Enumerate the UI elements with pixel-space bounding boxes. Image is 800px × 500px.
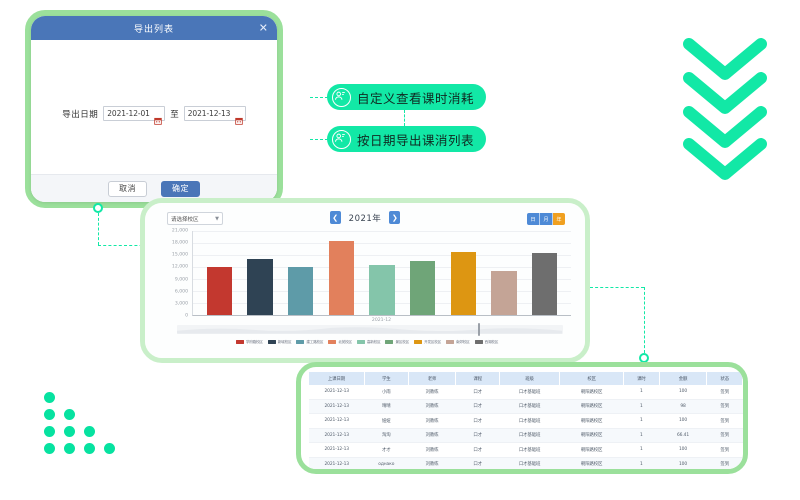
chart-toolbar: 请选择校区 ▼ ❮ 2021年 ❯ 日 月 年 xyxy=(145,209,585,229)
table-cell: 晴晴 xyxy=(364,399,408,414)
bar-slot xyxy=(240,231,281,315)
confirm-button[interactable]: 确定 xyxy=(161,181,200,197)
legend-swatch xyxy=(446,340,454,345)
cancel-button[interactable]: 取消 xyxy=(108,181,147,197)
x-axis-label: 2021-12 xyxy=(192,318,571,323)
table-cell: 妞妞 xyxy=(364,414,408,429)
table-row[interactable]: 2021-12-13小雨刘教练口才口才基础班朝阳路校区1100签到 xyxy=(309,385,743,399)
legend-label: 学府路校区 xyxy=(246,340,263,345)
legend-item[interactable]: 学府路校区 xyxy=(236,340,263,345)
decorative-dot-pattern xyxy=(44,392,126,458)
user-profile-icon xyxy=(332,130,351,149)
table-cell: 1 xyxy=(624,443,660,458)
table-cell: 98 xyxy=(659,399,707,414)
legend-swatch xyxy=(414,340,422,345)
y-axis-tick: 3,000 xyxy=(175,301,188,306)
table-column-header[interactable]: 学生 xyxy=(364,372,408,385)
table-column-header[interactable]: 班级 xyxy=(500,372,560,385)
table-cell: 2021-12-13 xyxy=(309,457,364,472)
table-cell: 口才基础班 xyxy=(500,414,560,429)
legend-item[interactable]: 西湖校区 xyxy=(475,340,499,345)
table-cell: 1 xyxy=(624,414,660,429)
legend-item[interactable]: 新城校区 xyxy=(268,340,292,345)
callout-pill-export-list[interactable]: 按日期导出课消列表 xyxy=(327,126,486,152)
chart-range-scrollbar[interactable] xyxy=(177,325,563,334)
bar[interactable] xyxy=(207,267,232,315)
legend-swatch xyxy=(296,340,304,345)
dialog-title: 导出列表 xyxy=(134,22,174,35)
connector-line-table-h xyxy=(590,287,644,288)
view-toggle-day[interactable]: 日 xyxy=(527,213,540,225)
connector-node-dialog xyxy=(93,203,103,213)
table-cell: 口才基础班 xyxy=(500,457,560,472)
table-column-header[interactable]: 上课日期 xyxy=(309,372,364,385)
callout-pill-custom-view[interactable]: 自定义查看课时消耗 xyxy=(327,84,486,110)
year-navigator: ❮ 2021年 ❯ xyxy=(145,211,585,224)
table-row[interactable]: 2021-12-13однако刘教练口才口才基础班朝阳路校区1100签到 xyxy=(309,457,743,472)
bar[interactable] xyxy=(329,241,354,315)
bar[interactable] xyxy=(369,265,394,315)
year-label: 2021年 xyxy=(349,212,382,224)
table-cell: 签到 xyxy=(707,399,743,414)
table-column-header[interactable]: 校区 xyxy=(560,372,624,385)
table-header-row: 上课日期学生老师课程班级校区课时金额状态 xyxy=(309,372,743,385)
bar-slot xyxy=(199,231,240,315)
legend-label: 南郊校区 xyxy=(456,340,470,345)
table-cell: 口才基础班 xyxy=(500,443,560,458)
legend-item[interactable]: 建工路校区 xyxy=(296,340,323,345)
table-cell: 朝阳路校区 xyxy=(560,414,624,429)
view-toggle-year[interactable]: 年 xyxy=(553,213,565,225)
bar-chart: 03,0006,0009,00012,00015,00018,00021,000… xyxy=(165,231,571,316)
chart-panel: 请选择校区 ▼ ❮ 2021年 ❯ 日 月 年 03,0006,0009,000… xyxy=(140,198,590,363)
connector-line-table-v xyxy=(644,287,645,353)
legend-item[interactable]: 北苑校区 xyxy=(328,340,352,345)
table-column-header[interactable]: 课程 xyxy=(456,372,500,385)
table-cell: 2021-12-13 xyxy=(309,399,364,414)
decorative-chevron-group xyxy=(683,38,769,183)
table-cell: 66.41 xyxy=(659,428,707,443)
legend-label: 建工路校区 xyxy=(306,340,323,345)
legend-item[interactable]: 南郊校区 xyxy=(446,340,470,345)
legend-swatch xyxy=(328,340,336,345)
table-cell: 刘教练 xyxy=(408,399,456,414)
year-prev-button[interactable]: ❮ xyxy=(330,211,341,224)
bar[interactable] xyxy=(410,261,435,315)
y-axis-tick: 9,000 xyxy=(175,277,188,282)
table-cell: 才才 xyxy=(364,443,408,458)
view-toggle-month[interactable]: 月 xyxy=(540,213,553,225)
table-cell: 刘教练 xyxy=(408,414,456,429)
legend-label: 西湖校区 xyxy=(485,340,499,345)
legend-item[interactable]: 高新校区 xyxy=(357,340,381,345)
bar-slot xyxy=(484,231,525,315)
table-cell: 刘教练 xyxy=(408,443,456,458)
table-cell: 口才 xyxy=(456,385,500,399)
table-cell: 口才 xyxy=(456,414,500,429)
bar-series xyxy=(199,231,565,315)
table-cell: 口才 xyxy=(456,399,500,414)
table-body: 2021-12-13小雨刘教练口才口才基础班朝阳路校区1100签到2021-12… xyxy=(309,385,743,472)
legend-swatch xyxy=(385,340,393,345)
dialog-body: 导出日期 2021-12-01 至 2021-12-13 xyxy=(31,40,277,174)
y-axis-tick: 21,000 xyxy=(172,229,188,234)
callout-connector-vertical xyxy=(404,110,405,126)
legend-swatch xyxy=(268,340,276,345)
table-cell: 签到 xyxy=(707,428,743,443)
export-date-label: 导出日期 xyxy=(62,108,98,120)
table-cell: 2021-12-13 xyxy=(309,414,364,429)
legend-label: 开发区校区 xyxy=(424,340,441,345)
table-cell: 2021-12-13 xyxy=(309,443,364,458)
table-cell: 刘教练 xyxy=(408,457,456,472)
table-column-header[interactable]: 老师 xyxy=(408,372,456,385)
connector-line-dialog xyxy=(98,213,99,245)
callout-connector-2 xyxy=(310,139,328,140)
range-preview-icon xyxy=(177,325,562,334)
date-from-input[interactable]: 2021-12-01 xyxy=(103,106,165,121)
table-cell: 2021-12-13 xyxy=(309,385,364,399)
table-cell: 口才基础班 xyxy=(500,399,560,414)
screenshot-stage: 导出列表 ✕ 导出日期 2021-12-01 至 xyxy=(0,0,800,500)
callout-label: 自定义查看课时消耗 xyxy=(357,88,474,107)
bar-slot xyxy=(362,231,403,315)
table-cell: 刘教练 xyxy=(408,428,456,443)
table-cell: 1 xyxy=(624,385,660,399)
calendar-icon[interactable] xyxy=(235,110,243,118)
bar[interactable] xyxy=(532,253,557,315)
y-axis: 03,0006,0009,00012,00015,00018,00021,000 xyxy=(165,231,191,316)
bar[interactable] xyxy=(288,267,313,315)
table-cell: 100 xyxy=(659,443,707,458)
y-axis-tick: 0 xyxy=(185,314,188,319)
course-consumption-table-panel: 上课日期学生老师课程班级校区课时金额状态 2021-12-13小雨刘教练口才口才… xyxy=(296,362,748,474)
legend-swatch xyxy=(475,340,483,345)
table-cell: 朝阳路校区 xyxy=(560,457,624,472)
bar[interactable] xyxy=(491,271,516,315)
legend-label: 北苑校区 xyxy=(338,340,352,345)
y-axis-tick: 12,000 xyxy=(172,265,188,270)
close-icon[interactable]: ✕ xyxy=(259,23,269,34)
table-row[interactable]: 2021-12-13才才刘教练口才口才基础班朝阳路校区1100签到 xyxy=(309,443,743,458)
table-cell: 朝阳路校区 xyxy=(560,385,624,399)
table-column-header[interactable]: 课时 xyxy=(624,372,660,385)
table-cell: 朝阳路校区 xyxy=(560,443,624,458)
table-cell: 100 xyxy=(659,414,707,429)
date-to-value: 2021-12-13 xyxy=(188,109,231,118)
table-cell: 100 xyxy=(659,385,707,399)
callout-connector-1 xyxy=(310,97,328,98)
table-cell: 朝阳路校区 xyxy=(560,399,624,414)
user-profile-icon xyxy=(332,88,351,107)
plot-grid xyxy=(192,231,571,316)
table-cell: 签到 xyxy=(707,414,743,429)
legend-label: 高新校区 xyxy=(367,340,381,345)
table-cell: 口才基础班 xyxy=(500,385,560,399)
legend-item[interactable]: 开发区校区 xyxy=(414,340,441,345)
table-cell: 签到 xyxy=(707,457,743,472)
chart-inner: 请选择校区 ▼ ❮ 2021年 ❯ 日 月 年 03,0006,0009,000… xyxy=(145,203,585,358)
year-next-button[interactable]: ❯ xyxy=(389,211,400,224)
bar[interactable] xyxy=(451,252,476,315)
table-cell: 签到 xyxy=(707,443,743,458)
chevron-down-icon xyxy=(683,138,767,182)
table-cell: 1 xyxy=(624,457,660,472)
table-cell: 100 xyxy=(659,457,707,472)
date-from-value: 2021-12-01 xyxy=(107,109,150,118)
bar-slot xyxy=(321,231,362,315)
table-row[interactable]: 2021-12-13淘淘刘教练口才口才基础班朝阳路校区166.41签到 xyxy=(309,428,743,443)
legend-label: 景区校区 xyxy=(395,340,409,345)
table-cell: 1 xyxy=(624,428,660,443)
legend-item[interactable]: 景区校区 xyxy=(385,340,409,345)
table-column-header[interactable]: 状态 xyxy=(707,372,743,385)
date-range-separator: 至 xyxy=(170,108,179,120)
date-to-input[interactable]: 2021-12-13 xyxy=(184,106,246,121)
y-axis-tick: 6,000 xyxy=(175,289,188,294)
table-cell: 口才 xyxy=(456,443,500,458)
dialog-title-bar: 导出列表 ✕ xyxy=(31,16,277,40)
table-cell: 朝阳路校区 xyxy=(560,428,624,443)
table-cell: однако xyxy=(364,457,408,472)
export-dialog: 导出列表 ✕ 导出日期 2021-12-01 至 xyxy=(31,16,277,202)
table-cell: 口才基础班 xyxy=(500,428,560,443)
table-cell: 淘淘 xyxy=(364,428,408,443)
legend-label: 新城校区 xyxy=(278,340,292,345)
table-cell: 1 xyxy=(624,399,660,414)
bar-slot xyxy=(280,231,321,315)
table-cell: 口才 xyxy=(456,457,500,472)
table-cell: 口才 xyxy=(456,428,500,443)
table-cell: 2021-12-13 xyxy=(309,428,364,443)
table-row[interactable]: 2021-12-13妞妞刘教练口才口才基础班朝阳路校区1100签到 xyxy=(309,414,743,429)
legend-swatch xyxy=(357,340,365,345)
table-cell: 签到 xyxy=(707,385,743,399)
bar-slot xyxy=(524,231,565,315)
bar-slot xyxy=(402,231,443,315)
y-axis-tick: 15,000 xyxy=(172,253,188,258)
table-row[interactable]: 2021-12-13晴晴刘教练口才口才基础班朝阳路校区198签到 xyxy=(309,399,743,414)
bar[interactable] xyxy=(247,259,272,315)
table-cell: 刘教练 xyxy=(408,385,456,399)
callout-label: 按日期导出课消列表 xyxy=(357,130,474,149)
export-date-row: 导出日期 2021-12-01 至 2021-12-13 xyxy=(31,106,277,121)
y-axis-tick: 18,000 xyxy=(172,241,188,246)
legend-swatch xyxy=(236,340,244,345)
calendar-icon[interactable] xyxy=(154,110,162,118)
table-cell: 小雨 xyxy=(364,385,408,399)
view-toggle-group: 日 月 年 xyxy=(527,213,565,225)
chart-legend: 学府路校区新城校区建工路校区北苑校区高新校区景区校区开发区校区南郊校区西湖校区 xyxy=(163,337,571,347)
table-column-header[interactable]: 金额 xyxy=(659,372,707,385)
course-consumption-table: 上课日期学生老师课程班级校区课时金额状态 2021-12-13小雨刘教练口才口才… xyxy=(309,372,743,472)
scrollbar-handle[interactable] xyxy=(478,323,480,336)
bar-slot xyxy=(443,231,484,315)
